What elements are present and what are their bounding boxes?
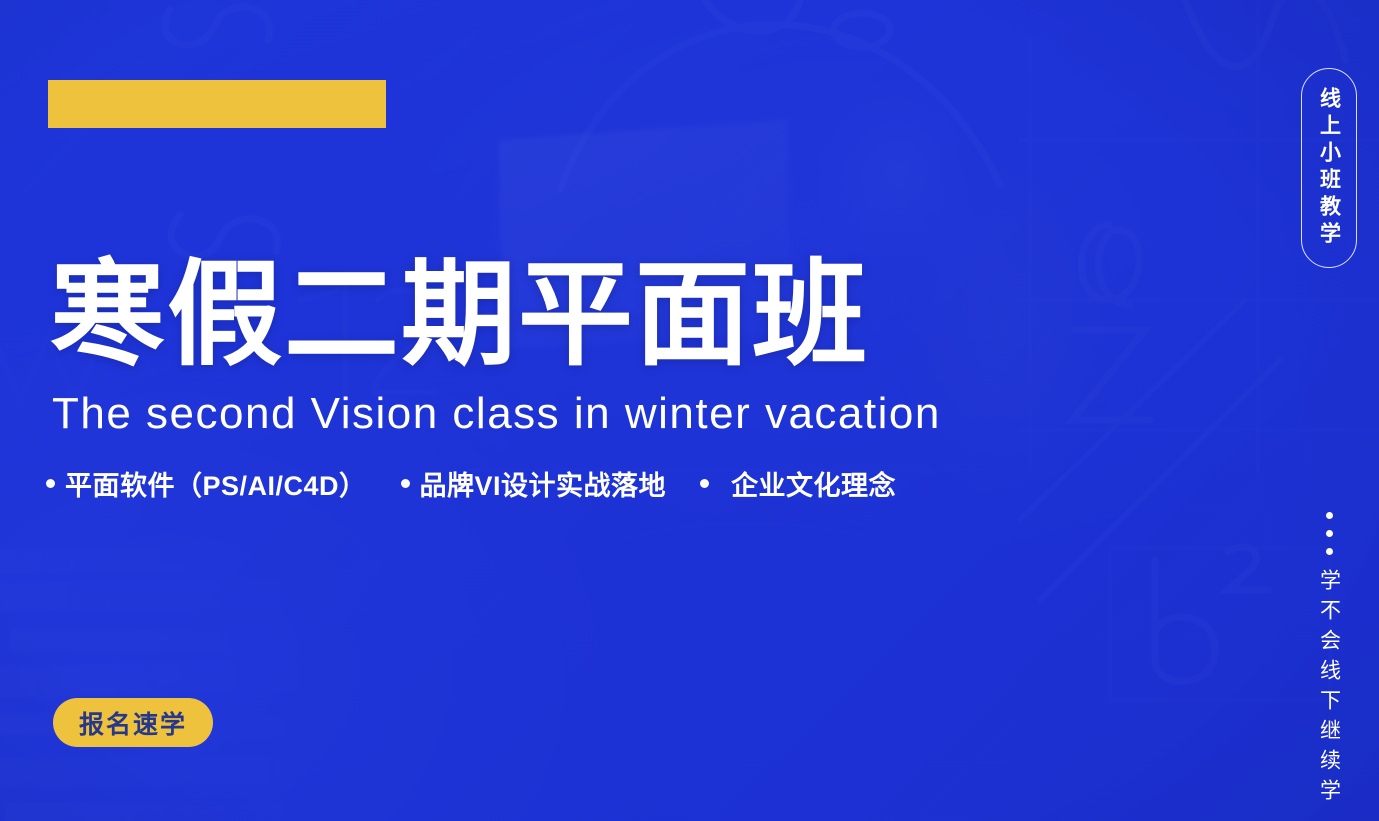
accent-bar (48, 80, 386, 128)
page-title: 寒假二期平面班 (50, 258, 869, 373)
bullet-dot-icon (700, 479, 709, 488)
page-subtitle: The second Vision class in winter vacati… (52, 392, 941, 436)
feature-list: 平面软件（PS/AI/C4D） 品牌VI设计实战落地 企业文化理念 (46, 464, 896, 503)
guarantee-slogan: 学不会线下继续学 (1305, 512, 1353, 809)
feature-label: 平面软件（PS/AI/C4D） (65, 464, 367, 503)
bullet-dot-icon (46, 479, 55, 488)
feature-item-culture: 企业文化理念 (700, 464, 896, 503)
guarantee-slogan-label: 学不会线下继续学 (1319, 569, 1340, 809)
enroll-button[interactable]: 报名速学 (53, 698, 213, 747)
online-class-badge-label: 线上小班教学 (1319, 87, 1340, 249)
three-dots-icon (1326, 512, 1333, 555)
feature-item-software: 平面软件（PS/AI/C4D） (46, 464, 367, 503)
bullet-dot-icon (401, 479, 410, 488)
online-class-badge: 线上小班教学 (1301, 68, 1357, 268)
feature-item-brand-vi: 品牌VI设计实战落地 (401, 464, 667, 503)
feature-label: 品牌VI设计实战落地 (420, 464, 667, 503)
feature-label: 企业文化理念 (731, 464, 896, 503)
promo-poster: 寒假二期平面班 The second Vision class in winte… (0, 0, 1379, 821)
poster-content: 寒假二期平面班 The second Vision class in winte… (0, 0, 1379, 821)
